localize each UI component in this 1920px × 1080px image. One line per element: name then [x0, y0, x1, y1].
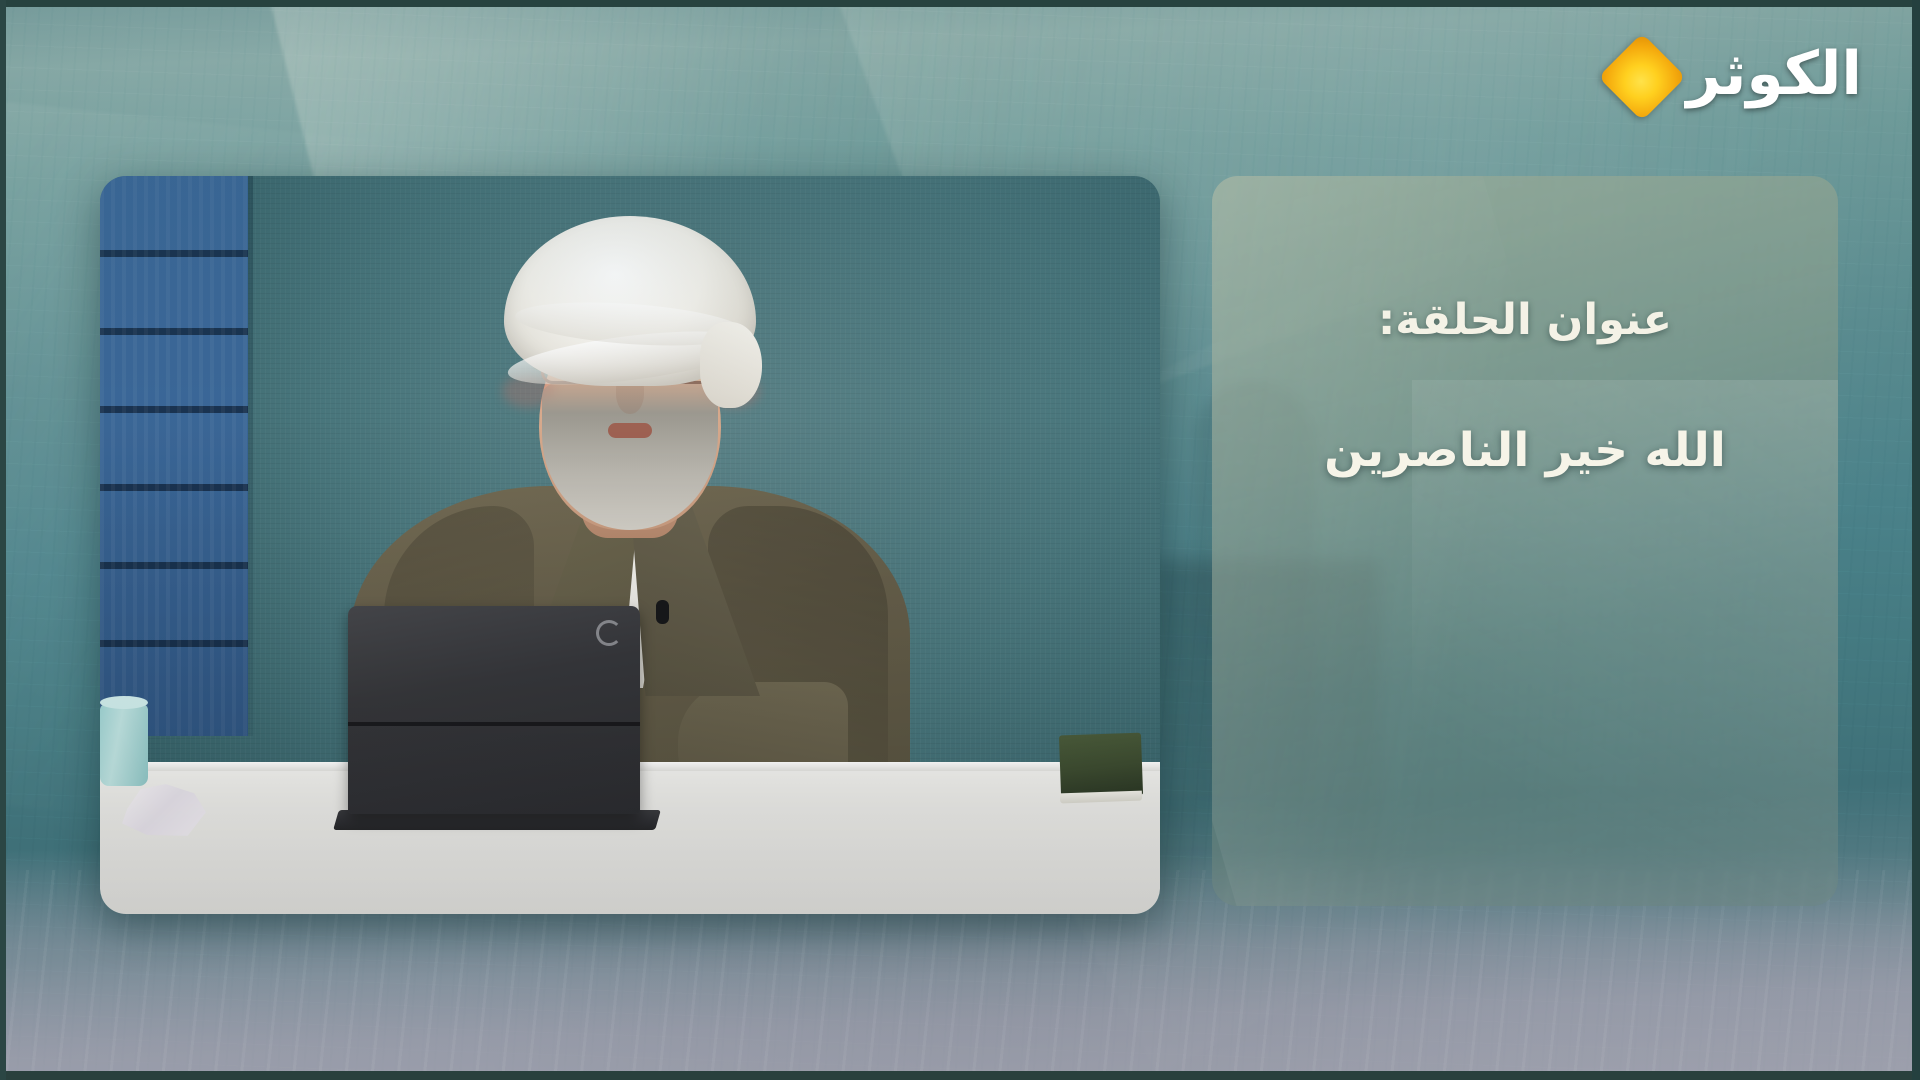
- frame-border-left: [0, 0, 6, 1080]
- frame-border-top: [0, 0, 1920, 7]
- channel-logo: الكوثر: [1611, 44, 1862, 110]
- bookcase-shelf: [100, 484, 248, 491]
- frame-border-right: [1912, 0, 1920, 1080]
- backdrop-panel-edge: [248, 176, 253, 736]
- green-hardcover-book: [1059, 733, 1143, 798]
- episode-title-panel: عنوان الحلقة: الله خير الناصرين: [1212, 176, 1838, 906]
- turban-side-fold: [700, 322, 762, 408]
- channel-name-label: الكوثر: [1687, 44, 1862, 110]
- bookcase-shelf: [100, 406, 248, 413]
- video-feed-panel[interactable]: [100, 176, 1160, 914]
- teal-cup: [100, 704, 148, 786]
- teal-cup-rim: [100, 696, 148, 709]
- tablet-on-stand: [348, 606, 640, 814]
- lapel-microphone-icon: [656, 600, 669, 624]
- mouth: [608, 423, 652, 438]
- gold-diamond-icon: [1598, 33, 1686, 121]
- bookcase-shelf: [100, 328, 248, 335]
- bookcase-shelf: [100, 640, 248, 647]
- episode-title-text: الله خير الناصرين: [1324, 420, 1726, 481]
- episode-title-label: عنوان الحلقة:: [1378, 294, 1672, 348]
- bookcase-shelf: [100, 250, 248, 257]
- broadcast-stage: الكوثر: [0, 0, 1920, 1080]
- bookcase-shelf: [100, 562, 248, 569]
- tablet-brand-icon: [596, 620, 622, 646]
- frame-border-bottom: [0, 1071, 1920, 1080]
- blue-bookcase-backdrop: [100, 176, 248, 736]
- tablet-case-seam: [348, 722, 640, 726]
